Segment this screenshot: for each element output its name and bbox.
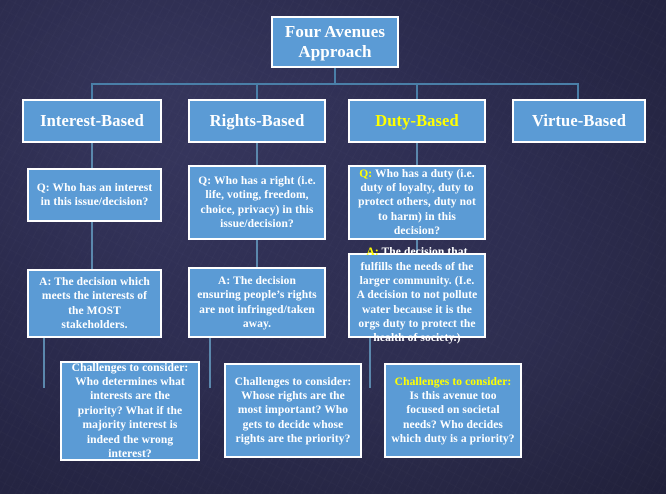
node-question-duty[interactable]: Q: Who has a duty (i.e. duty of loyalty,…: [348, 165, 486, 240]
question-prefix-rights: Q:: [198, 175, 211, 187]
node-question-rights[interactable]: Q: Who has a right (i.e. life, voting, f…: [188, 165, 326, 240]
connector-drop-interest: [91, 83, 93, 99]
node-answer-interest[interactable]: A: The decision which meets the interest…: [27, 269, 162, 338]
node-challenges-rights[interactable]: Challenges to consider: Whose rights are…: [224, 363, 362, 458]
connector-interest-heading-question: [91, 143, 93, 168]
node-heading-virtue[interactable]: Virtue-Based: [512, 99, 646, 143]
node-title-label: Four Avenues Approach: [278, 22, 392, 63]
node-answer-rights[interactable]: A: The decision ensuring people’s rights…: [188, 267, 326, 338]
challenge-text-rights: Whose rights are the most important? Who…: [236, 390, 351, 445]
heading-label-rights: Rights-Based: [195, 111, 319, 130]
node-title[interactable]: Four Avenues Approach: [271, 16, 399, 68]
challenge-text-duty: Is this avenue too focused on societal n…: [391, 390, 514, 445]
node-challenges-interest[interactable]: Challenges to consider: Who determines w…: [60, 361, 200, 461]
connector-drop-virtue: [577, 83, 579, 99]
connector-drop-duty: [416, 83, 418, 99]
connector-rights-heading-question: [256, 143, 258, 165]
node-heading-interest[interactable]: Interest-Based: [22, 99, 162, 143]
question-text-rights: Who has a right (i.e. life, voting, free…: [201, 175, 316, 230]
connector-title-down: [334, 67, 336, 84]
node-question-interest[interactable]: Q: Who has an interest in this issue/dec…: [27, 168, 162, 222]
answer-text-duty: The decision that fulfills the needs of …: [357, 246, 478, 344]
challenge-prefix-rights: Challenges to consider:: [235, 376, 352, 388]
answer-text-rights: The decision ensuring people’s rights ar…: [197, 275, 317, 330]
answer-prefix-duty: A:: [366, 246, 378, 258]
challenge-prefix-interest: Challenges to consider:: [72, 362, 189, 374]
answer-prefix-interest: A:: [39, 276, 51, 288]
heading-label-duty: Duty-Based: [355, 111, 479, 130]
node-heading-duty[interactable]: Duty-Based: [348, 99, 486, 143]
heading-label-virtue: Virtue-Based: [519, 111, 639, 130]
answer-prefix-rights: A:: [218, 275, 230, 287]
connector-rights-question-answer: [256, 240, 258, 267]
challenge-text-interest: Who determines what interests are the pr…: [75, 376, 185, 460]
connector-rights-answer-challenges: [209, 338, 211, 388]
question-prefix-duty: Q:: [359, 168, 372, 180]
answer-text-interest: The decision which meets the interests o…: [42, 276, 150, 331]
connector-interest-answer-challenges: [43, 338, 45, 388]
heading-label-interest: Interest-Based: [29, 111, 155, 130]
node-heading-rights[interactable]: Rights-Based: [188, 99, 326, 143]
connector-drop-rights: [256, 83, 258, 99]
connector-duty-heading-question: [416, 143, 418, 165]
node-challenges-duty[interactable]: Challenges to consider: Is this avenue t…: [384, 363, 522, 458]
connector-horizontal-bus: [91, 83, 579, 85]
question-text-duty: Who has a duty (i.e. duty of loyalty, du…: [358, 168, 476, 238]
challenge-prefix-duty: Challenges to consider:: [395, 376, 512, 388]
connector-interest-question-answer: [91, 222, 93, 269]
node-answer-duty[interactable]: A: The decision that fulfills the needs …: [348, 253, 486, 338]
question-prefix-interest: Q:: [37, 182, 50, 194]
slide-canvas: Four Avenues Approach Interest-Based Rig…: [0, 0, 666, 494]
question-text-interest: Who has an interest in this issue/decisi…: [41, 182, 153, 208]
